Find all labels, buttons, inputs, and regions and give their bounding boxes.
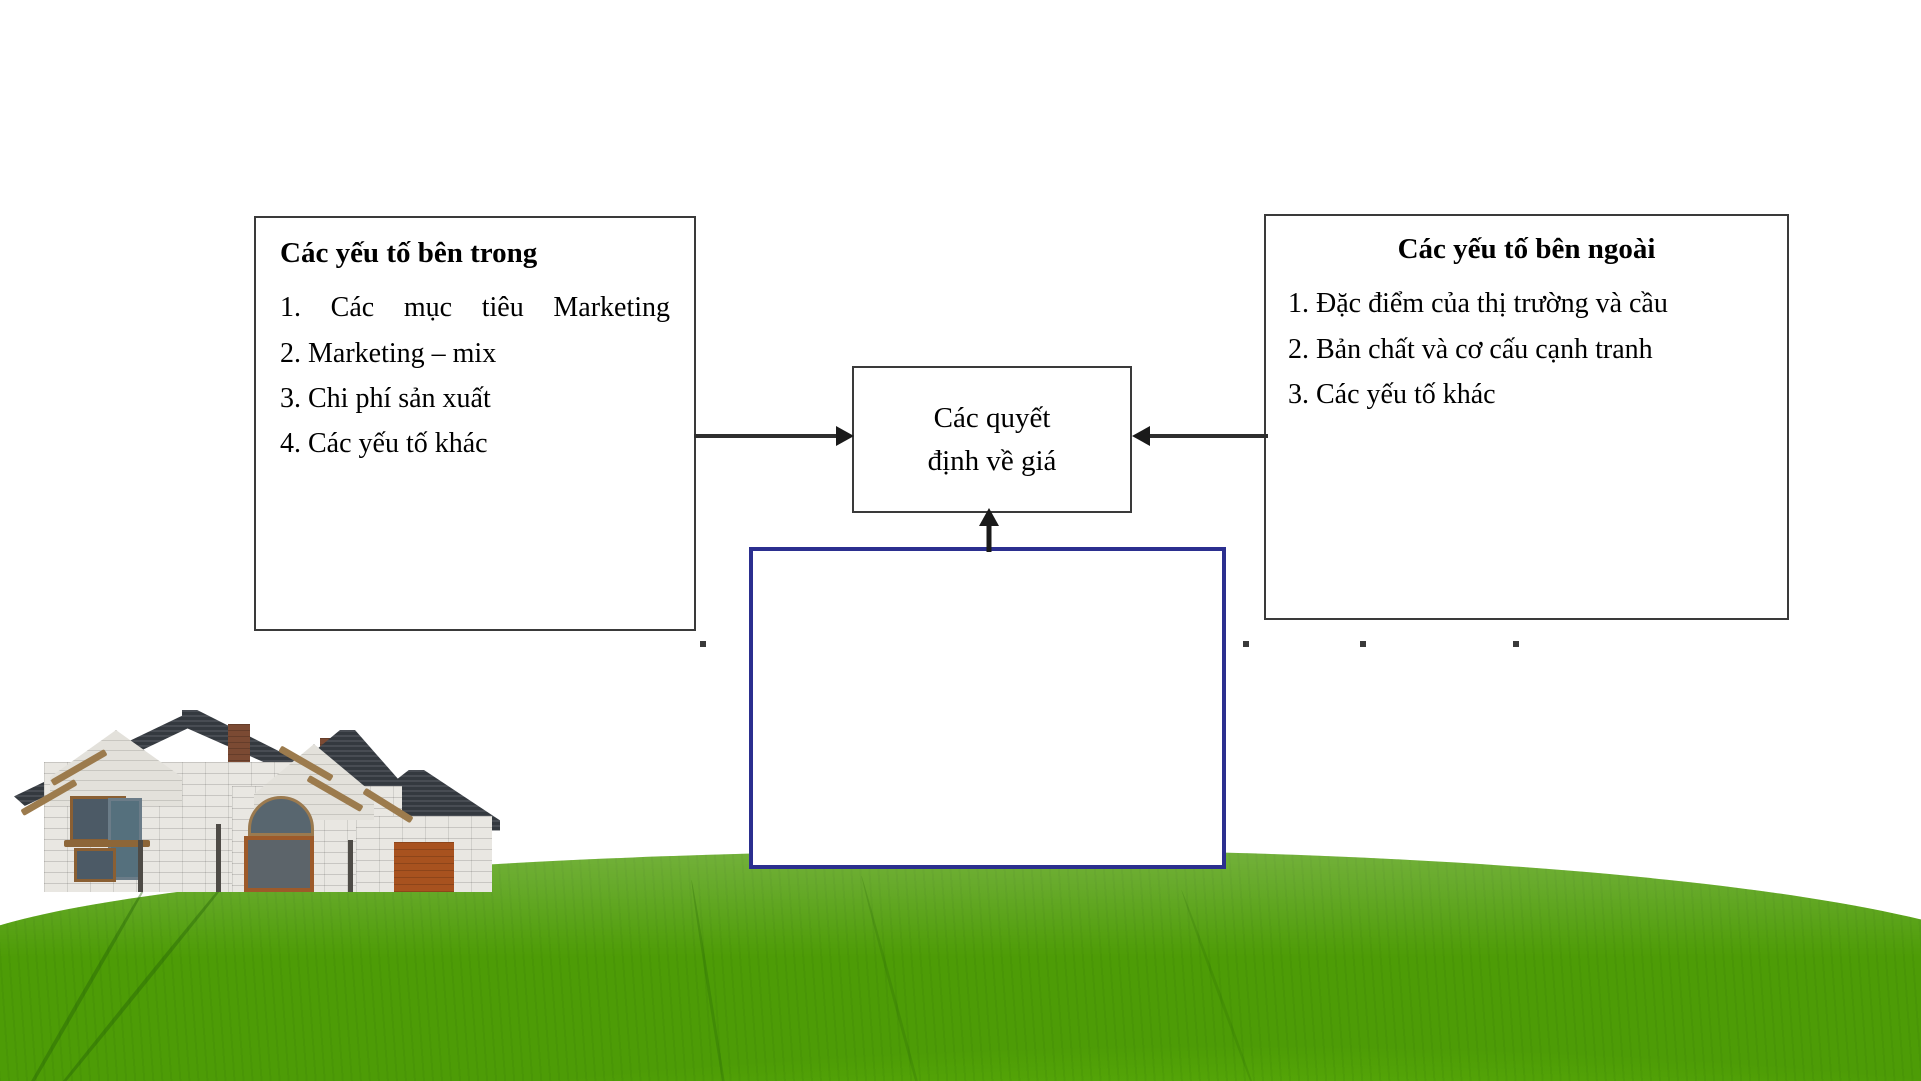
list-item: 2. Bản chất và cơ cấu cạnh tranh bbox=[1288, 327, 1765, 372]
price-decisions-line2: định về giá bbox=[928, 440, 1057, 482]
list-item: 3. Các yếu tố khác bbox=[1288, 372, 1765, 417]
text-artifact-dot bbox=[700, 641, 706, 647]
internal-factors-title: Các yếu tố bên trong bbox=[280, 236, 670, 271]
external-factors-list: 1. Đặc điểm của thị trường và cầu 2. Bản… bbox=[1288, 281, 1765, 417]
node-external-factors[interactable]: Các yếu tố bên ngoài 1. Đặc điểm của thị… bbox=[1264, 214, 1789, 620]
list-item: 4. Các yếu tố khác bbox=[280, 421, 670, 466]
connector-internal-to-center bbox=[694, 424, 856, 448]
text-artifact-dot bbox=[1243, 641, 1249, 647]
text-artifact-dot bbox=[1513, 641, 1519, 647]
node-price-decisions[interactable]: Các quyết định về giá bbox=[852, 366, 1132, 513]
external-factors-title: Các yếu tố bên ngoài bbox=[1288, 232, 1765, 267]
list-item: 1. Các mục tiêu Marketing bbox=[280, 285, 670, 330]
list-item: 3. Chi phí sản xuất bbox=[280, 376, 670, 421]
list-item: 1. Đặc điểm của thị trường và cầu bbox=[1288, 281, 1765, 326]
internal-item-1: 1. Các mục tiêu Marketing bbox=[280, 292, 670, 323]
node-blue-placeholder[interactable] bbox=[749, 547, 1226, 869]
list-item: 2. Marketing – mix bbox=[280, 331, 670, 376]
text-artifact-dot bbox=[1360, 641, 1366, 647]
price-decision-diagram: Các yếu tố bên trong 1. Các mục tiêu Mar… bbox=[0, 0, 1921, 1081]
internal-factors-list: 1. Các mục tiêu Marketing 2. Marketing –… bbox=[280, 285, 670, 466]
price-decisions-line1: Các quyết bbox=[934, 397, 1051, 439]
node-internal-factors[interactable]: Các yếu tố bên trong 1. Các mục tiêu Mar… bbox=[254, 216, 696, 631]
connector-external-to-center bbox=[1132, 424, 1268, 448]
connector-blue-to-center bbox=[976, 508, 1002, 552]
slide-canvas: Các yếu tố bên trong 1. Các mục tiêu Mar… bbox=[0, 0, 1921, 1081]
